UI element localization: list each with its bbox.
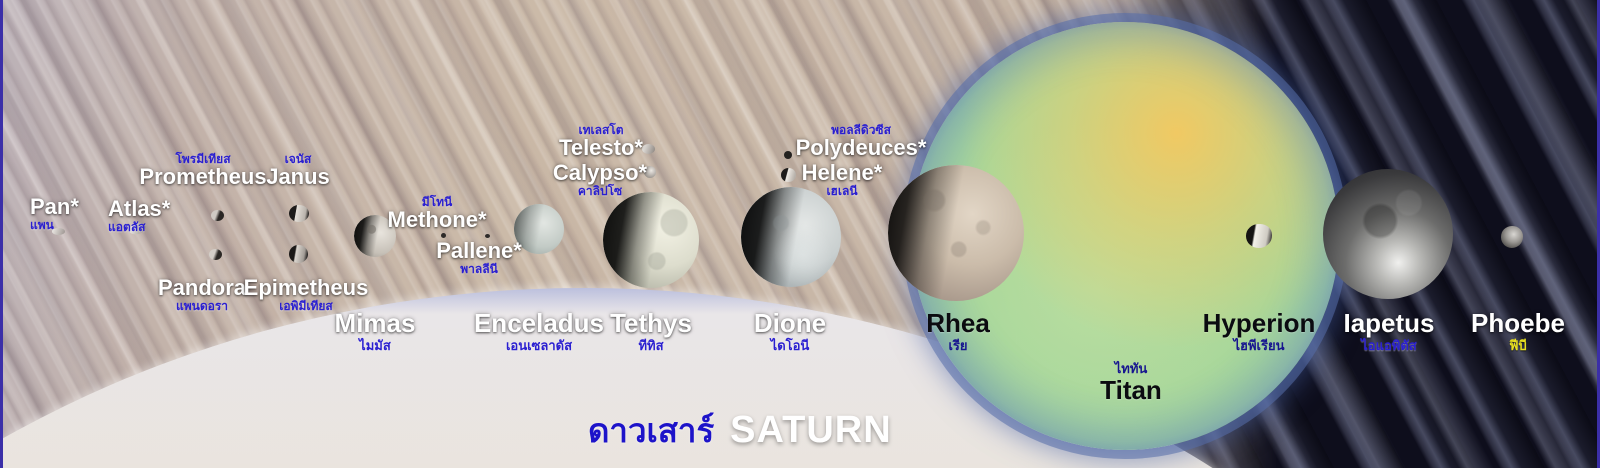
label-iapetus: Iapetus ไอแอพิตัส — [1343, 310, 1434, 352]
moon-body-helene — [781, 168, 796, 182]
label-tethys: Tethys ทีทิส — [610, 310, 692, 352]
moon-body-janus — [289, 205, 309, 222]
moon-body-epimetheus — [289, 245, 308, 263]
tethys-craters — [603, 192, 699, 288]
moon-body-telesto — [642, 144, 655, 154]
label-prometheus: โพรมีเทียส Prometheus — [139, 153, 266, 189]
label-janus: เจนัส Janus — [266, 153, 330, 189]
label-calypso: Calypso* คาลิปโซ — [553, 162, 647, 198]
moon-body-prometheus — [211, 210, 224, 221]
page-title-thai: ดาวเสาร์ — [588, 412, 714, 449]
label-rhea: Rhea เรีย — [926, 310, 990, 352]
saturn-moons-poster: Pan* แพน Atlas* แอตลัส โพรมีเทียส Promet… — [0, 0, 1600, 468]
label-enceladus: Enceladus เอนเซลาดัส — [474, 310, 604, 352]
page-title: ดาวเสาร์SATURN — [588, 404, 892, 457]
moon-body-tethys — [603, 192, 699, 288]
moon-body-phoebe — [1501, 226, 1523, 248]
page-title-english: SATURN — [730, 409, 892, 451]
label-pallene: Pallene* พาลลีนี — [436, 240, 522, 276]
moon-body-dione — [741, 187, 841, 287]
rhea-craters — [888, 165, 1024, 301]
label-hyperion: Hyperion ไฮพีเรียน — [1203, 310, 1316, 352]
moon-body-polydeuces — [784, 151, 792, 159]
label-helene: Helene* เฮเลนี — [802, 162, 883, 198]
label-titan: ไททัน Titan — [1100, 362, 1162, 404]
label-methone: มีโทนี Methone* — [388, 196, 487, 232]
dione-wispy-terrain — [741, 187, 841, 287]
label-pandora: Pandora แพนดอรา — [158, 277, 246, 313]
moon-body-pandora — [209, 249, 222, 260]
label-dione: Dione ไดโอนี — [754, 310, 826, 352]
moon-body-hyperion — [1246, 224, 1272, 248]
moon-body-iapetus — [1323, 169, 1453, 299]
label-phoebe: Phoebe ฟีบี — [1471, 310, 1565, 352]
label-mimas: Mimas ไมมัส — [335, 310, 416, 352]
iapetus-cassini-regio — [1323, 169, 1453, 299]
label-telesto: เทเลสโต Telesto* — [559, 124, 643, 160]
label-polydeuces: พอลลีดิวซีส Polydeuces* — [796, 124, 927, 160]
moon-body-rhea — [888, 165, 1024, 301]
label-pan: Pan* แพน — [30, 196, 79, 232]
label-atlas: Atlas* แอตลัส — [108, 198, 170, 234]
